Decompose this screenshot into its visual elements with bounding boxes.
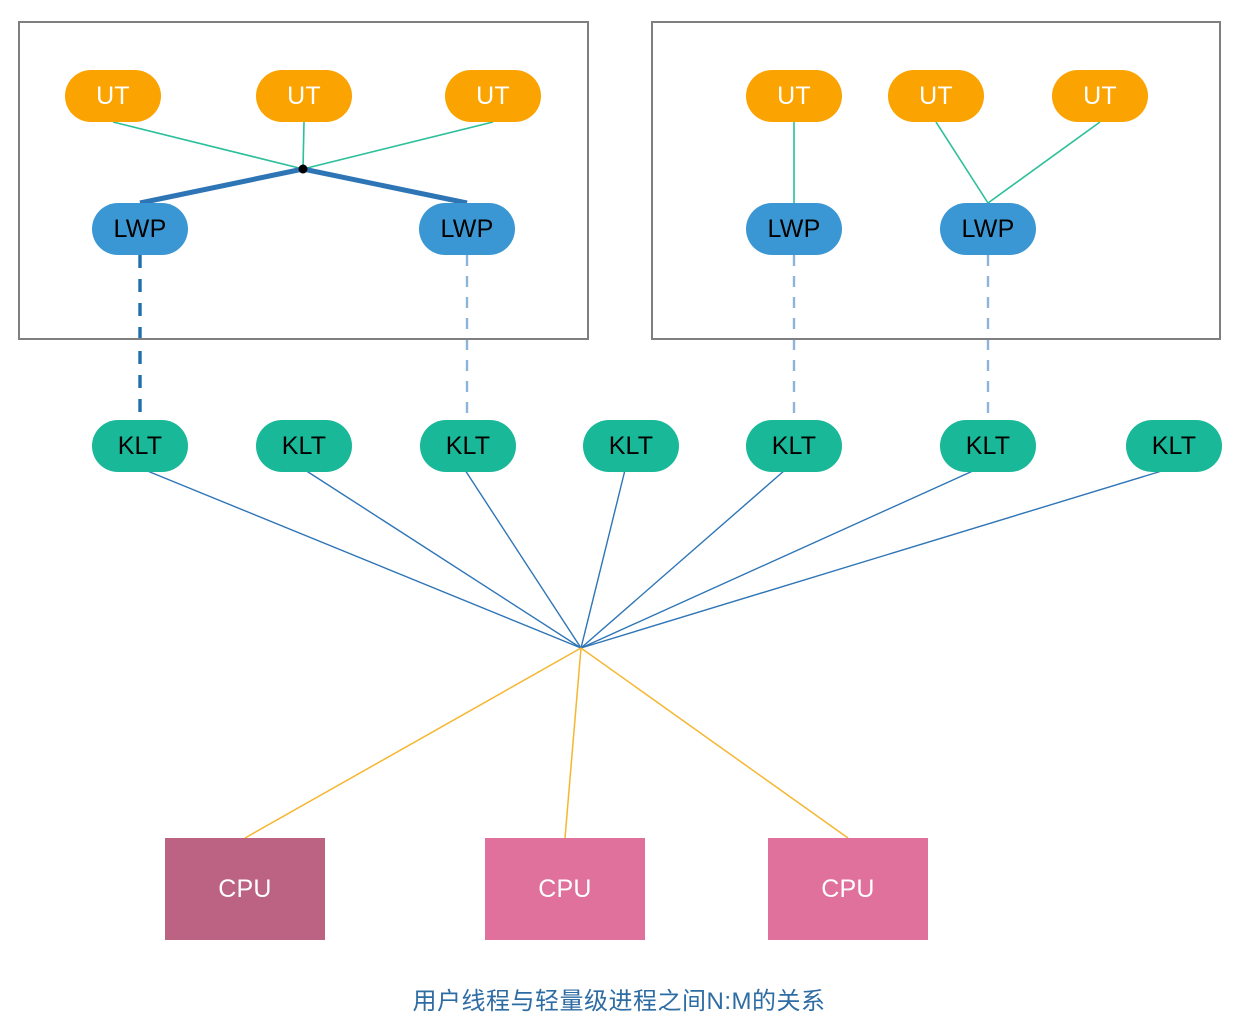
edge-klt-to-scheduler: [581, 470, 1165, 648]
user-thread-node-1[interactable]: UT: [65, 70, 161, 122]
lwp-node-label: LWP: [114, 215, 167, 244]
cpu-node-1[interactable]: CPU: [165, 838, 325, 940]
cpu-node-label: CPU: [218, 875, 271, 904]
klt-node-6[interactable]: KLT: [940, 420, 1036, 472]
klt-node-4[interactable]: KLT: [583, 420, 679, 472]
edge-scheduler-to-cpu: [245, 648, 581, 838]
edge-klt-to-scheduler: [465, 470, 581, 648]
klt-node-label: KLT: [772, 432, 817, 461]
klt-node-label: KLT: [966, 432, 1011, 461]
edge-klt-to-scheduler: [581, 470, 975, 648]
edges-scheduler-to-cpu: [245, 648, 848, 838]
edge-klt-to-scheduler: [305, 470, 581, 648]
lwp-node-label: LWP: [441, 215, 494, 244]
edge-scheduler-to-cpu: [565, 648, 581, 838]
diagram-canvas: UTUTUTUTUTUTLWPLWPLWPLWPKLTKLTKLTKLTKLTK…: [0, 0, 1238, 1030]
diagram-caption: 用户线程与轻量级进程之间N:M的关系: [0, 981, 1238, 1016]
user-thread-node-5[interactable]: UT: [888, 70, 984, 122]
user-thread-node-label: UT: [287, 82, 321, 111]
cpu-node-label: CPU: [538, 875, 591, 904]
klt-node-label: KLT: [446, 432, 491, 461]
user-thread-node-label: UT: [476, 82, 510, 111]
lwp-node-4[interactable]: LWP: [940, 203, 1036, 255]
edge-klt-to-scheduler: [581, 470, 625, 648]
klt-node-2[interactable]: KLT: [256, 420, 352, 472]
klt-node-label: KLT: [1152, 432, 1197, 461]
klt-node-label: KLT: [118, 432, 163, 461]
edge-klt-to-scheduler: [145, 470, 581, 648]
klt-node-7[interactable]: KLT: [1126, 420, 1222, 472]
lwp-node-3[interactable]: LWP: [746, 203, 842, 255]
klt-node-label: KLT: [282, 432, 327, 461]
lwp-node-2[interactable]: LWP: [419, 203, 515, 255]
lwp-node-label: LWP: [768, 215, 821, 244]
user-thread-node-3[interactable]: UT: [445, 70, 541, 122]
user-thread-node-label: UT: [777, 82, 811, 111]
edge-scheduler-to-cpu: [581, 648, 848, 838]
cpu-node-3[interactable]: CPU: [768, 838, 928, 940]
process-group-right: [651, 21, 1221, 340]
user-thread-node-4[interactable]: UT: [746, 70, 842, 122]
lwp-node-1[interactable]: LWP: [92, 203, 188, 255]
user-thread-node-6[interactable]: UT: [1052, 70, 1148, 122]
klt-node-3[interactable]: KLT: [420, 420, 516, 472]
process-group-left: [18, 21, 589, 340]
user-thread-node-label: UT: [1083, 82, 1117, 111]
user-thread-node-label: UT: [96, 82, 130, 111]
klt-node-1[interactable]: KLT: [92, 420, 188, 472]
edge-klt-to-scheduler: [581, 470, 785, 648]
user-thread-node-2[interactable]: UT: [256, 70, 352, 122]
klt-node-5[interactable]: KLT: [746, 420, 842, 472]
klt-node-label: KLT: [609, 432, 654, 461]
edges-klt-to-scheduler: [145, 470, 1165, 648]
cpu-node-label: CPU: [821, 875, 874, 904]
lwp-node-label: LWP: [962, 215, 1015, 244]
user-thread-node-label: UT: [919, 82, 953, 111]
cpu-node-2[interactable]: CPU: [485, 838, 645, 940]
